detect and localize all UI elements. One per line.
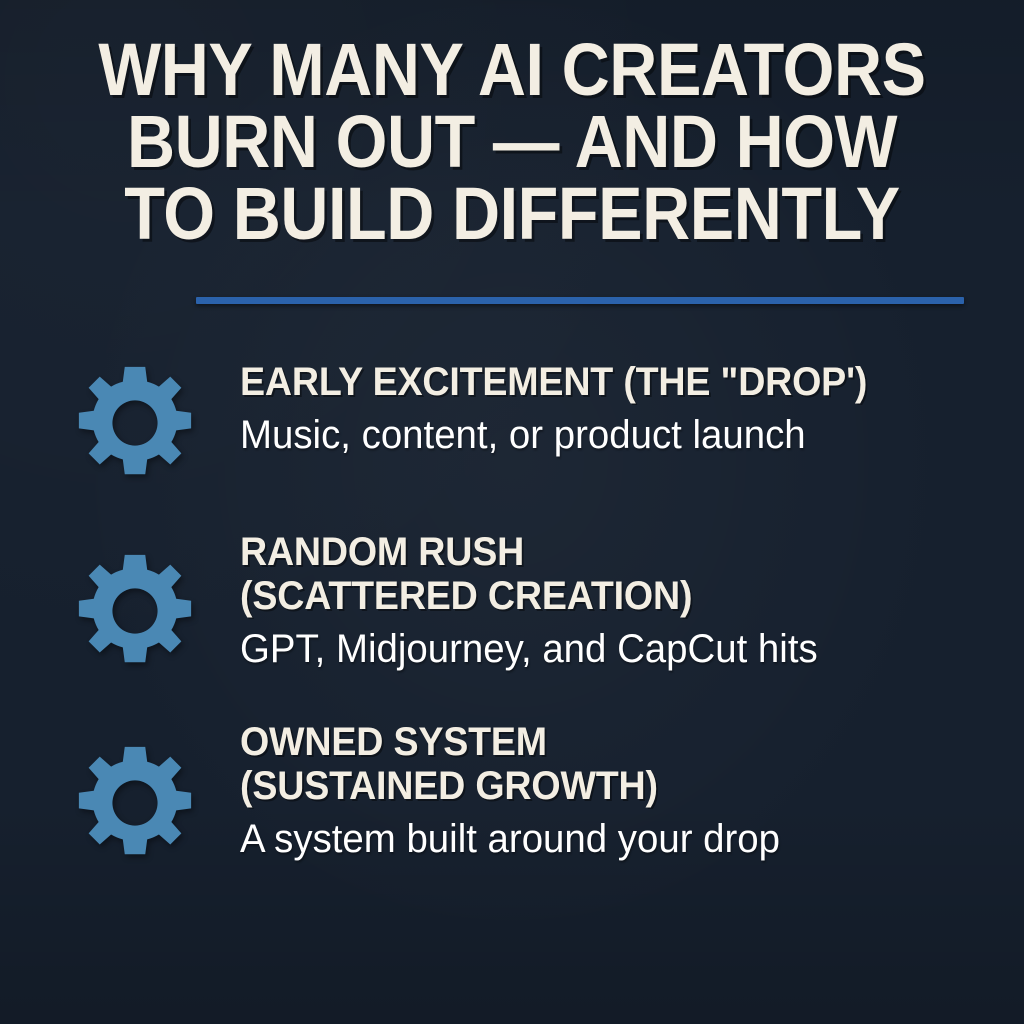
list-item-text: RANDOM RUSH (SCATTERED CREATION) GPT, Mi… [200, 528, 994, 672]
list-item: OWNED SYSTEM (SUSTAINED GROWTH) A system… [0, 718, 1024, 864]
list-item-text: EARLY EXCITEMENT (THE "DROP') Music, con… [200, 358, 994, 458]
list-item-heading: OWNED SYSTEM (SUSTAINED GROWTH) [240, 720, 949, 808]
list-item: RANDOM RUSH (SCATTERED CREATION) GPT, Mi… [0, 528, 1024, 672]
title-line-3: TO BUILD DIFFERENTLY [93, 178, 932, 250]
gear-icon [74, 528, 200, 672]
page-title: WHY MANY AI CREATORS BURN OUT — AND HOW … [0, 34, 1024, 250]
list-item-heading-line: OWNED SYSTEM [240, 720, 949, 764]
gear-icon [74, 358, 200, 484]
list-item-subtitle: Music, content, or product launch [240, 412, 964, 458]
infographic-poster: WHY MANY AI CREATORS BURN OUT — AND HOW … [0, 0, 1024, 1024]
list-item: EARLY EXCITEMENT (THE "DROP') Music, con… [0, 358, 1024, 484]
list-item-heading: RANDOM RUSH (SCATTERED CREATION) [240, 530, 949, 618]
accent-divider [196, 297, 964, 304]
list-item-heading: EARLY EXCITEMENT (THE "DROP') [240, 360, 949, 404]
list-item-subtitle: A system built around your drop [240, 816, 964, 862]
gear-icon [74, 718, 200, 864]
list-item-heading-line: (SUSTAINED GROWTH) [240, 764, 949, 808]
list-item-heading-line: RANDOM RUSH [240, 530, 949, 574]
list-item-subtitle: GPT, Midjourney, and CapCut hits [240, 626, 964, 672]
title-line-2: BURN OUT — AND HOW [93, 106, 932, 178]
title-line-1: WHY MANY AI CREATORS [93, 34, 932, 106]
bullet-list: EARLY EXCITEMENT (THE "DROP') Music, con… [0, 358, 1024, 864]
list-item-heading-line: (SCATTERED CREATION) [240, 574, 949, 618]
list-item-text: OWNED SYSTEM (SUSTAINED GROWTH) A system… [200, 718, 994, 862]
list-item-heading-line: EARLY EXCITEMENT (THE "DROP') [240, 360, 949, 404]
